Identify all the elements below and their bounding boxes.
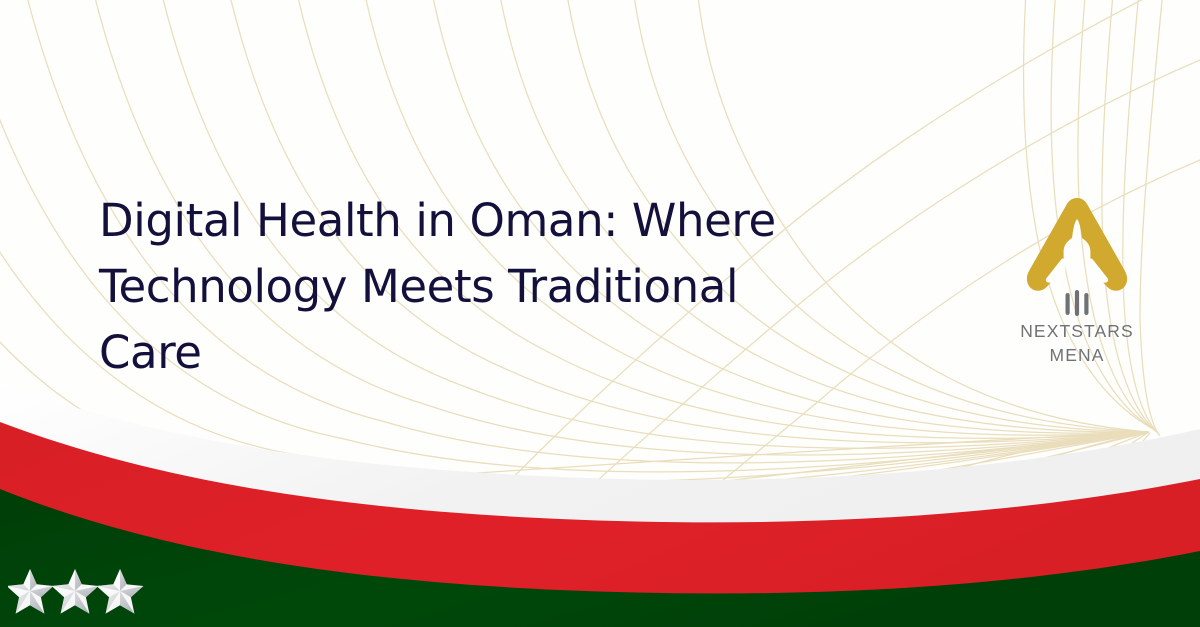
star-item (8, 569, 53, 614)
star-item (97, 569, 144, 614)
flag-band-white (0, 382, 1200, 627)
title-block: Digital Health in Oman: Where Technology… (99, 188, 889, 386)
banner-canvas: Digital Health in Oman: Where Technology… (0, 0, 1200, 627)
exhaust-lines-icon (1066, 290, 1089, 316)
flag-band-red (0, 422, 1200, 627)
oman-flag-wave (0, 367, 1200, 627)
brand-logo: NEXTSTARS MENA (1004, 196, 1150, 367)
rocket-triangle-icon (1025, 196, 1129, 316)
flag-band-green (0, 489, 1200, 627)
page-title: Digital Health in Oman: Where Technology… (99, 188, 889, 386)
logo-wordmark: NEXTSTARS MENA (1004, 319, 1150, 367)
three-stars-emblem (8, 563, 148, 619)
star-item (52, 569, 99, 614)
